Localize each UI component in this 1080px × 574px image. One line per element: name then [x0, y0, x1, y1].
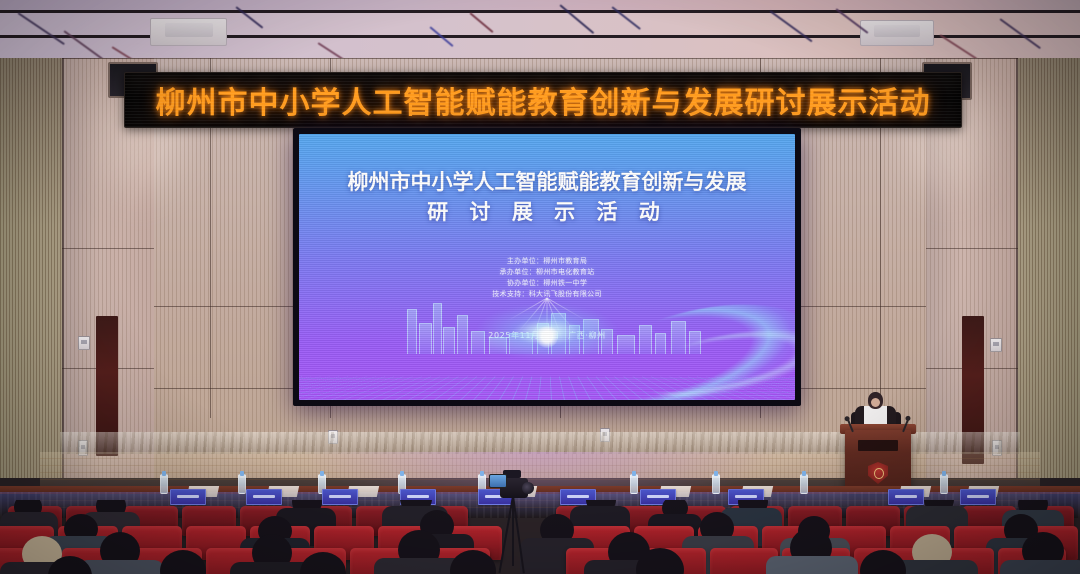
- auditorium-scene: 柳州市中小学人工智能赋能教育创新与发展研讨展示活动 柳州市中小学人工智能赋能教育…: [0, 0, 1080, 574]
- water-bottle: [712, 474, 720, 494]
- water-bottle: [238, 474, 246, 494]
- building: [419, 323, 432, 354]
- camera-lcd-screen: [489, 474, 507, 488]
- attendee-body: [766, 556, 858, 574]
- wall-switch-right[interactable]: [990, 338, 1002, 352]
- building: [407, 309, 417, 354]
- building: [443, 327, 455, 354]
- light-burst-core: [536, 326, 558, 348]
- led-screen-frame: 柳州市中小学人工智能赋能教育创新与发展 研 讨 展 示 活 动 主办单位：柳州市…: [293, 128, 801, 406]
- led-banner-text: 柳州市中小学人工智能赋能教育创新与发展研讨展示活动: [156, 78, 931, 122]
- led-screen: 柳州市中小学人工智能赋能教育创新与发展 研 讨 展 示 活 动 主办单位：柳州市…: [299, 134, 795, 400]
- attendee-body: [1000, 560, 1080, 574]
- credit-line: 承办单位：柳州市电化教育站: [299, 267, 795, 278]
- speaker-face: [871, 398, 880, 407]
- water-bottle: [940, 474, 948, 494]
- podium-panel: [858, 440, 898, 451]
- building: [457, 315, 468, 354]
- ceiling-vent-left: [150, 18, 227, 46]
- credit-line: 主办单位：柳州市教育局: [299, 256, 795, 267]
- ceiling-vent-right: [860, 20, 934, 46]
- screen-skyline-graphic: [299, 288, 795, 400]
- screen-title-line2: 研 讨 展 示 活 动: [299, 196, 795, 226]
- pilaster-edge-right: [1016, 58, 1018, 478]
- audience-seating: [0, 500, 1080, 574]
- water-bottle: [630, 474, 638, 494]
- building: [433, 303, 442, 354]
- camera-lens-icon: [522, 482, 534, 494]
- pilaster-edge-left: [62, 58, 64, 478]
- water-bottle: [160, 474, 168, 494]
- wall-switch-left[interactable]: [78, 336, 90, 350]
- water-bottle: [800, 474, 808, 494]
- tripod-leg: [512, 496, 514, 566]
- screen-title-line1: 柳州市中小学人工智能赋能教育创新与发展: [299, 166, 795, 196]
- led-banner: 柳州市中小学人工智能赋能教育创新与发展研讨展示活动: [124, 72, 962, 128]
